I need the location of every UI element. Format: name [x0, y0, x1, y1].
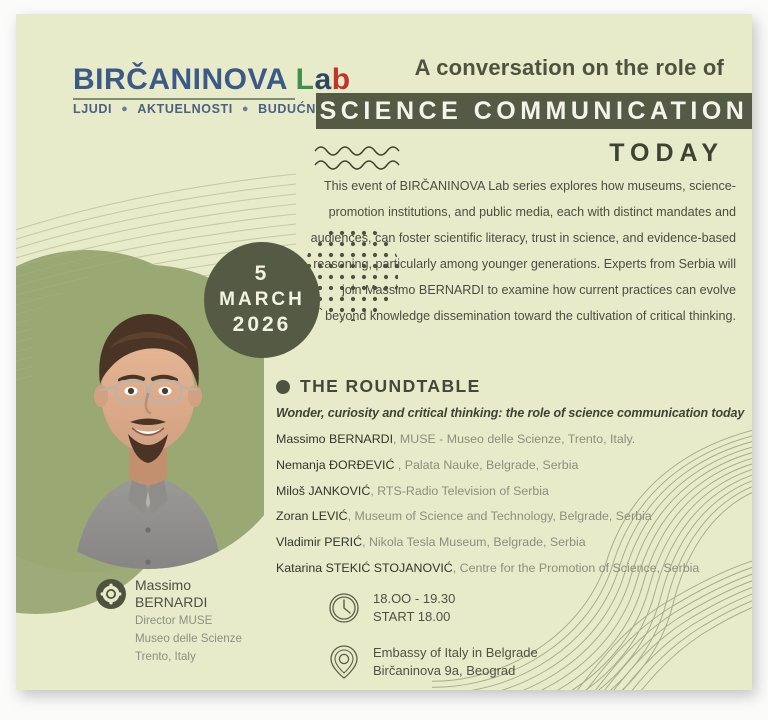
speaker-affiliation: , Museum of Science and Technology, Belg…: [348, 509, 652, 523]
roundtable-section: THE ROUNDTABLE Wonder, curiosity and cri…: [276, 376, 746, 582]
speaker-affiliation: , Nikola Tesla Museum, Belgrade, Serbia: [362, 535, 586, 549]
speaker-affiliation: , MUSE - Museo delle Scienze, Trento, It…: [393, 432, 635, 446]
logo-tagline: LJUDI ● AKTUELNOSTI ● BUDUĆNOST: [73, 102, 309, 116]
list-item: Nemanja ĐORĐEVIĆ , Palata Nauke, Belgrad…: [276, 453, 746, 479]
speaker-name: Vladimir PERIĆ: [276, 535, 362, 549]
credit-first-name: Massimo: [135, 577, 242, 594]
list-item: Vladimir PERIĆ, Nikola Tesla Museum, Bel…: [276, 530, 746, 556]
date-badge: 5 MARCH 2026: [204, 242, 320, 358]
event-venue-text: Embassy of Italy in Belgrade Birčaninova…: [373, 644, 538, 681]
list-item: Miloš JANKOVIĆ, RTS-Radio Television of …: [276, 479, 746, 505]
logo-letter-l: L: [296, 63, 315, 96]
location-pin-icon: [328, 644, 360, 680]
credit-last-name: BERNARDI: [135, 594, 242, 611]
roundtable-subtitle: Wonder, curiosity and critical thinking:…: [276, 406, 746, 420]
speaker-name: Massimo BERNARDI: [276, 432, 393, 446]
speaker-affiliation: , Palata Nauke, Belgrade, Serbia: [398, 458, 578, 472]
event-venue-name: Embassy of Italy in Belgrade: [373, 644, 538, 662]
brand-logo[interactable]: BIRČANINOVA Lab LJUDI ● AKTUELNOSTI ● BU…: [73, 65, 309, 116]
logo-divider-rule: [73, 98, 295, 100]
speaker-name: Zoran LEVIĆ: [276, 509, 348, 523]
event-time-start: START 18.00: [373, 608, 455, 626]
speaker-name: Nemanja ĐORĐEVIĆ: [276, 458, 398, 472]
speaker-credit: Massimo BERNARDI Director MUSE Museo del…: [96, 577, 242, 664]
event-meta: 18.OO - 19.30 START 18.00 Embassy of Ita…: [328, 590, 538, 690]
roundtable-heading: THE ROUNDTABLE: [276, 376, 746, 397]
event-time-range: 18.OO - 19.30: [373, 590, 455, 608]
credit-city: Trento, Italy: [135, 649, 242, 665]
logo-wordmark-birčaninova: BIRČANINOVA: [73, 63, 296, 96]
credit-institution: Museo delle Scienze: [135, 631, 242, 647]
logo-tagline-aktuelnosti: AKTUELNOSTI: [137, 102, 233, 116]
event-time-row: 18.OO - 19.30 START 18.00: [328, 590, 538, 627]
speaker-name: Miloš JANKOVIĆ: [276, 484, 370, 498]
date-year: 2026: [233, 312, 292, 339]
bullet-dot-icon: ●: [242, 103, 249, 115]
clock-icon: [328, 592, 360, 624]
page-root: 5 MARCH 2026 BIRČANINOVA Lab LJUDI ● AKT…: [0, 0, 768, 720]
bullet-dot-icon: ●: [121, 103, 128, 115]
list-item: Zoran LEVIĆ, Museum of Science and Techn…: [276, 504, 746, 530]
speaker-credit-text: Massimo BERNARDI Director MUSE Museo del…: [135, 577, 242, 664]
logo-tagline-ljudi: LJUDI: [73, 102, 112, 116]
poster-card: 5 MARCH 2026 BIRČANINOVA Lab LJUDI ● AKT…: [16, 14, 752, 690]
credit-role: Director MUSE: [135, 613, 242, 629]
logo-letter-a: a: [315, 63, 332, 96]
speaker-name: Katarina STEKIĆ STOJANOVIĆ: [276, 561, 453, 575]
title-banner-text: SCIENCE COMMUNICATION: [320, 97, 749, 126]
speaker-affiliation: , RTS-Radio Television of Serbia: [370, 484, 549, 498]
title-banner: SCIENCE COMMUNICATION: [316, 93, 752, 129]
speaker-list: Massimo BERNARDI, MUSE - Museo delle Sci…: [276, 427, 746, 582]
event-time-text: 18.OO - 19.30 START 18.00: [373, 590, 455, 627]
event-venue-address: Birčaninova 9a, Beograd: [373, 662, 538, 680]
gear-icon: [96, 579, 126, 609]
filled-circle-icon: [276, 380, 290, 394]
roundtable-title: THE ROUNDTABLE: [300, 376, 481, 397]
headline-kicker: A conversation on the role of: [415, 55, 724, 81]
today-label: TODAY: [609, 139, 724, 168]
list-item: Massimo BERNARDI, MUSE - Museo delle Sci…: [276, 427, 746, 453]
list-item: Katarina STEKIĆ STOJANOVIĆ, Centre for t…: [276, 556, 746, 582]
logo-letter-b: b: [332, 63, 351, 96]
intro-paragraph: This event of BIRČANINOVA Lab series exp…: [308, 174, 736, 330]
wave-squiggle-decoration: [313, 141, 409, 173]
date-day: 5: [255, 261, 270, 288]
date-month: MARCH: [219, 288, 305, 312]
event-venue-row: Embassy of Italy in Belgrade Birčaninova…: [328, 644, 538, 681]
speaker-affiliation: , Centre for the Promotion of Science, S…: [453, 561, 700, 575]
logo-wordmark: BIRČANINOVA Lab: [73, 65, 309, 95]
